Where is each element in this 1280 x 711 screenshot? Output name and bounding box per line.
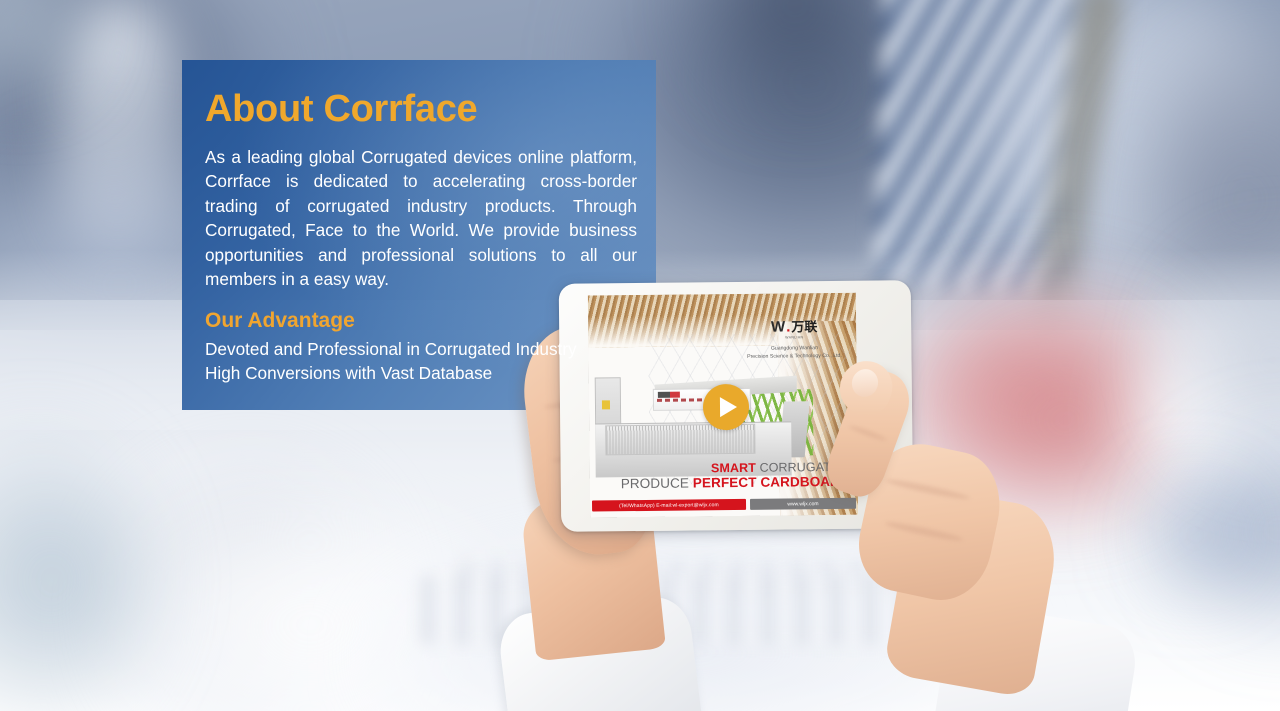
play-button[interactable] <box>703 384 749 430</box>
logo-letter: W <box>771 319 784 334</box>
advantage-heading: Our Advantage <box>205 308 632 334</box>
logo-chinese: 万联 <box>791 320 817 333</box>
page-title: About Corrface <box>205 90 632 128</box>
about-panel: About Corrface As a leading global Corru… <box>182 60 656 410</box>
tagline-produce: PRODUCE <box>621 475 689 491</box>
advantage-line-2: High Conversions with Vast Database <box>205 361 632 386</box>
tagline-line-2: PRODUCE PERFECT CARDBOARD <box>621 474 850 492</box>
footer-contact: (Tel/WhatsApp) E-mail:wl-export@wljx.com <box>592 499 746 512</box>
logo-dot: . <box>786 319 789 334</box>
machine-warning-label <box>602 400 610 409</box>
machine-banner-logo <box>658 392 680 398</box>
about-description: As a leading global Corrugated devices o… <box>205 145 637 291</box>
video-tagline: SMART CORRUGATOR PRODUCE PERFECT CARDBOA… <box>621 460 850 492</box>
advantage-line-1: Devoted and Professional in Corrugated I… <box>205 337 632 362</box>
play-triangle-icon <box>720 397 737 417</box>
right-hand-pointing <box>820 315 1120 711</box>
tagline-smart: SMART <box>711 461 756 475</box>
